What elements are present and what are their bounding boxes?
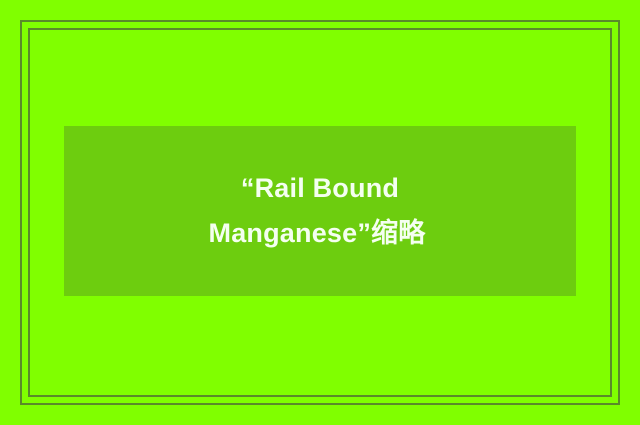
content-panel: “Rail Bound Manganese”缩略: [64, 126, 576, 296]
panel-title: “Rail Bound Manganese”缩略: [201, 166, 440, 256]
panel-title-line-2: Manganese”缩略: [209, 211, 426, 256]
image-canvas: “Rail Bound Manganese”缩略: [0, 0, 640, 425]
panel-title-line-1: “Rail Bound: [215, 166, 426, 211]
